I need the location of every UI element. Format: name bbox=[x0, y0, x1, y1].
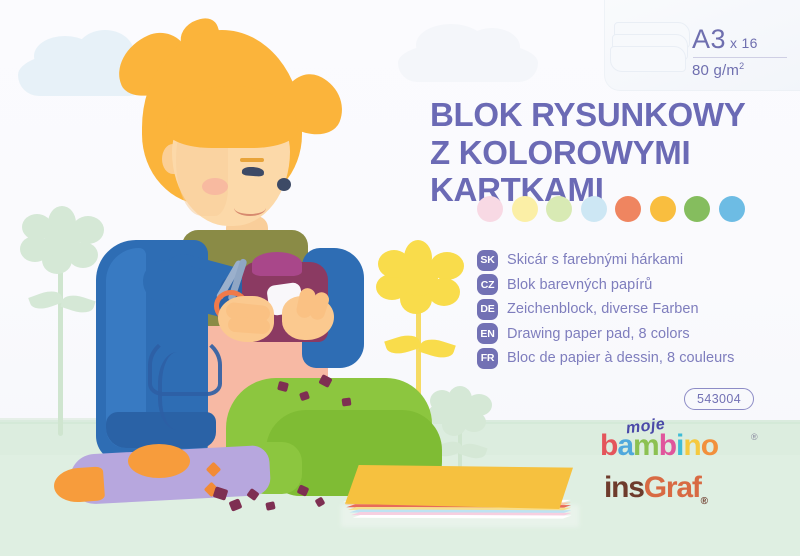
cloud-icon bbox=[18, 52, 150, 96]
product-code-badge: 543004 bbox=[684, 388, 754, 410]
flower-yellow-icon bbox=[372, 240, 468, 430]
spec-size: A3 bbox=[692, 26, 726, 53]
color-swatch-amber bbox=[650, 196, 676, 222]
face bbox=[172, 98, 290, 226]
paper-sheets-icon bbox=[610, 22, 696, 80]
ear bbox=[162, 144, 184, 174]
cut-paper-craft-top bbox=[252, 252, 302, 276]
bambino-letter-5: n bbox=[683, 431, 700, 461]
hair-tuft bbox=[176, 15, 225, 60]
paper-scrap bbox=[341, 397, 351, 406]
jacket-right bbox=[302, 248, 364, 368]
paper-scrap bbox=[315, 497, 326, 508]
product-packaging-image: A3x 16 80 g/m2 BLOK RYSUNKOWY Z KOLOROWY… bbox=[0, 0, 800, 556]
sleeve-cuff bbox=[138, 256, 251, 322]
color-swatch-row bbox=[477, 196, 745, 222]
bambino-wordmark: bambino bbox=[600, 431, 718, 461]
language-text-de: Zeichenblock, diverse Farben bbox=[507, 301, 699, 317]
cut-paper-hole bbox=[266, 282, 304, 316]
paper-stack-layer bbox=[349, 509, 571, 513]
language-text-en: Drawing paper pad, 8 colors bbox=[507, 326, 690, 342]
eye-right bbox=[277, 178, 291, 191]
jacket-hem bbox=[106, 412, 216, 448]
paper-scrap bbox=[213, 486, 229, 500]
paper-stack bbox=[345, 465, 590, 531]
sock-pattern bbox=[206, 462, 222, 478]
cheek-blush bbox=[202, 178, 228, 195]
bambino-letter-1: a bbox=[617, 431, 633, 461]
finger bbox=[295, 287, 317, 320]
girl-illustration bbox=[30, 12, 370, 532]
title-line-1: BLOK RYSUNKOWY bbox=[430, 96, 745, 133]
language-text-fr: Bloc de papier à dessin, 8 couleurs bbox=[507, 350, 734, 366]
language-text-sk: Skicár s farebnými hárkami bbox=[507, 252, 683, 268]
language-badge-en: EN bbox=[477, 323, 498, 344]
spec-divider bbox=[693, 57, 787, 58]
language-row-sk: SKSkicár s farebnými hárkami bbox=[477, 248, 787, 273]
paper-stack-layer bbox=[348, 507, 572, 511]
pants-green bbox=[226, 378, 432, 490]
paper-scrap bbox=[299, 391, 310, 401]
scissors-handle bbox=[214, 290, 248, 322]
arm-sleeve bbox=[156, 249, 284, 324]
paper-scrap bbox=[229, 498, 243, 511]
language-row-cz: CZBlok barevných papírů bbox=[477, 273, 787, 298]
insgraf-logo: insGraf® bbox=[604, 473, 707, 507]
bambino-letter-4: i bbox=[676, 431, 683, 461]
language-badge-cz: CZ bbox=[477, 274, 498, 295]
spec-weight-exponent: 2 bbox=[739, 61, 744, 71]
hand-left bbox=[218, 296, 274, 342]
bambino-letter-3: b bbox=[659, 431, 676, 461]
mouth-smile bbox=[234, 200, 266, 216]
paper-scrap bbox=[297, 484, 310, 496]
face-shading bbox=[176, 104, 228, 216]
eyebrow bbox=[240, 158, 264, 162]
eye-left bbox=[242, 166, 265, 177]
finger bbox=[308, 290, 331, 321]
jacket-shading bbox=[106, 248, 146, 448]
bambino-letter-2: m bbox=[633, 431, 659, 461]
hand-right bbox=[282, 296, 334, 340]
sock-pattern bbox=[204, 482, 220, 498]
hair-ponytail-right bbox=[273, 66, 352, 143]
pants-cuff bbox=[244, 442, 302, 494]
insgraf-part-1: ins bbox=[604, 471, 644, 504]
paper-scrap bbox=[246, 488, 259, 501]
paper-scrap bbox=[277, 381, 289, 392]
color-swatch-pale-yellow bbox=[512, 196, 538, 222]
cloud-icon bbox=[398, 42, 538, 82]
language-badge-sk: SK bbox=[477, 250, 498, 271]
wall-line bbox=[0, 418, 340, 420]
color-swatch-blue bbox=[719, 196, 745, 222]
insgraf-part-2: Graf bbox=[644, 471, 701, 504]
color-swatch-pale-pink bbox=[477, 196, 503, 222]
shirt-pink bbox=[168, 274, 328, 470]
background-sky bbox=[0, 0, 800, 470]
finger bbox=[228, 317, 271, 335]
spec-text: A3x 16 80 g/m2 bbox=[692, 26, 796, 79]
sleeve-cuff-ribbed bbox=[214, 275, 264, 321]
page-title: BLOK RYSUNKOWY Z KOLOROWYMI KARTKAMI bbox=[430, 96, 780, 209]
spec-weight: 80 g/m2 bbox=[692, 61, 796, 79]
cut-paper-craft bbox=[242, 262, 328, 342]
spec-count: x 16 bbox=[730, 35, 758, 51]
paper-stack-layer bbox=[346, 504, 571, 508]
top-olive bbox=[182, 230, 308, 326]
bambino-letter-6: o bbox=[701, 431, 718, 461]
hair-back bbox=[142, 30, 302, 205]
pants-green-shade bbox=[266, 410, 442, 496]
registered-mark-icon: ® bbox=[751, 432, 758, 442]
jacket-bow bbox=[148, 334, 222, 396]
color-swatch-orange bbox=[615, 196, 641, 222]
moje-bambino-logo: moje bambino ® bbox=[600, 418, 770, 466]
paper-stack-layer bbox=[345, 502, 572, 506]
sock-heel-orange bbox=[128, 444, 190, 478]
neck bbox=[226, 216, 268, 252]
color-swatch-pale-green bbox=[546, 196, 572, 222]
language-row-de: DEZeichenblock, diverse Farben bbox=[477, 297, 787, 322]
language-badge-de: DE bbox=[477, 299, 498, 320]
color-swatch-pale-blue bbox=[581, 196, 607, 222]
flower-green-icon bbox=[18, 206, 110, 436]
finger bbox=[225, 302, 270, 323]
flower-bush-icon bbox=[428, 386, 494, 472]
registered-mark-icon: ® bbox=[701, 496, 707, 507]
paper-scrap bbox=[318, 374, 332, 388]
scissors-blade bbox=[215, 259, 243, 301]
paper-scrap bbox=[265, 501, 275, 511]
color-swatch-green bbox=[684, 196, 710, 222]
language-badge-fr: FR bbox=[477, 348, 498, 369]
language-row-en: ENDrawing paper pad, 8 colors bbox=[477, 322, 787, 347]
paper-stack-layer bbox=[353, 515, 572, 519]
hair-ponytail-left bbox=[107, 23, 198, 106]
paper-stack-layer bbox=[351, 512, 572, 516]
hair-bangs bbox=[166, 86, 298, 148]
jacket-left bbox=[96, 240, 208, 462]
sock-purple bbox=[69, 445, 271, 505]
bambino-letter-0: b bbox=[600, 431, 617, 461]
language-list: SKSkicár s farebnými hárkamiCZBlok barev… bbox=[477, 248, 787, 371]
language-text-cz: Blok barevných papírů bbox=[507, 277, 652, 293]
scissors-blade bbox=[227, 258, 247, 302]
paper-stack-top-sheet bbox=[345, 465, 573, 509]
sock-toe-orange bbox=[53, 466, 105, 503]
paper-stack-layer bbox=[343, 499, 571, 503]
jacket-bow-tail bbox=[158, 352, 206, 430]
language-row-fr: FRBloc de papier à dessin, 8 couleurs bbox=[477, 346, 787, 371]
